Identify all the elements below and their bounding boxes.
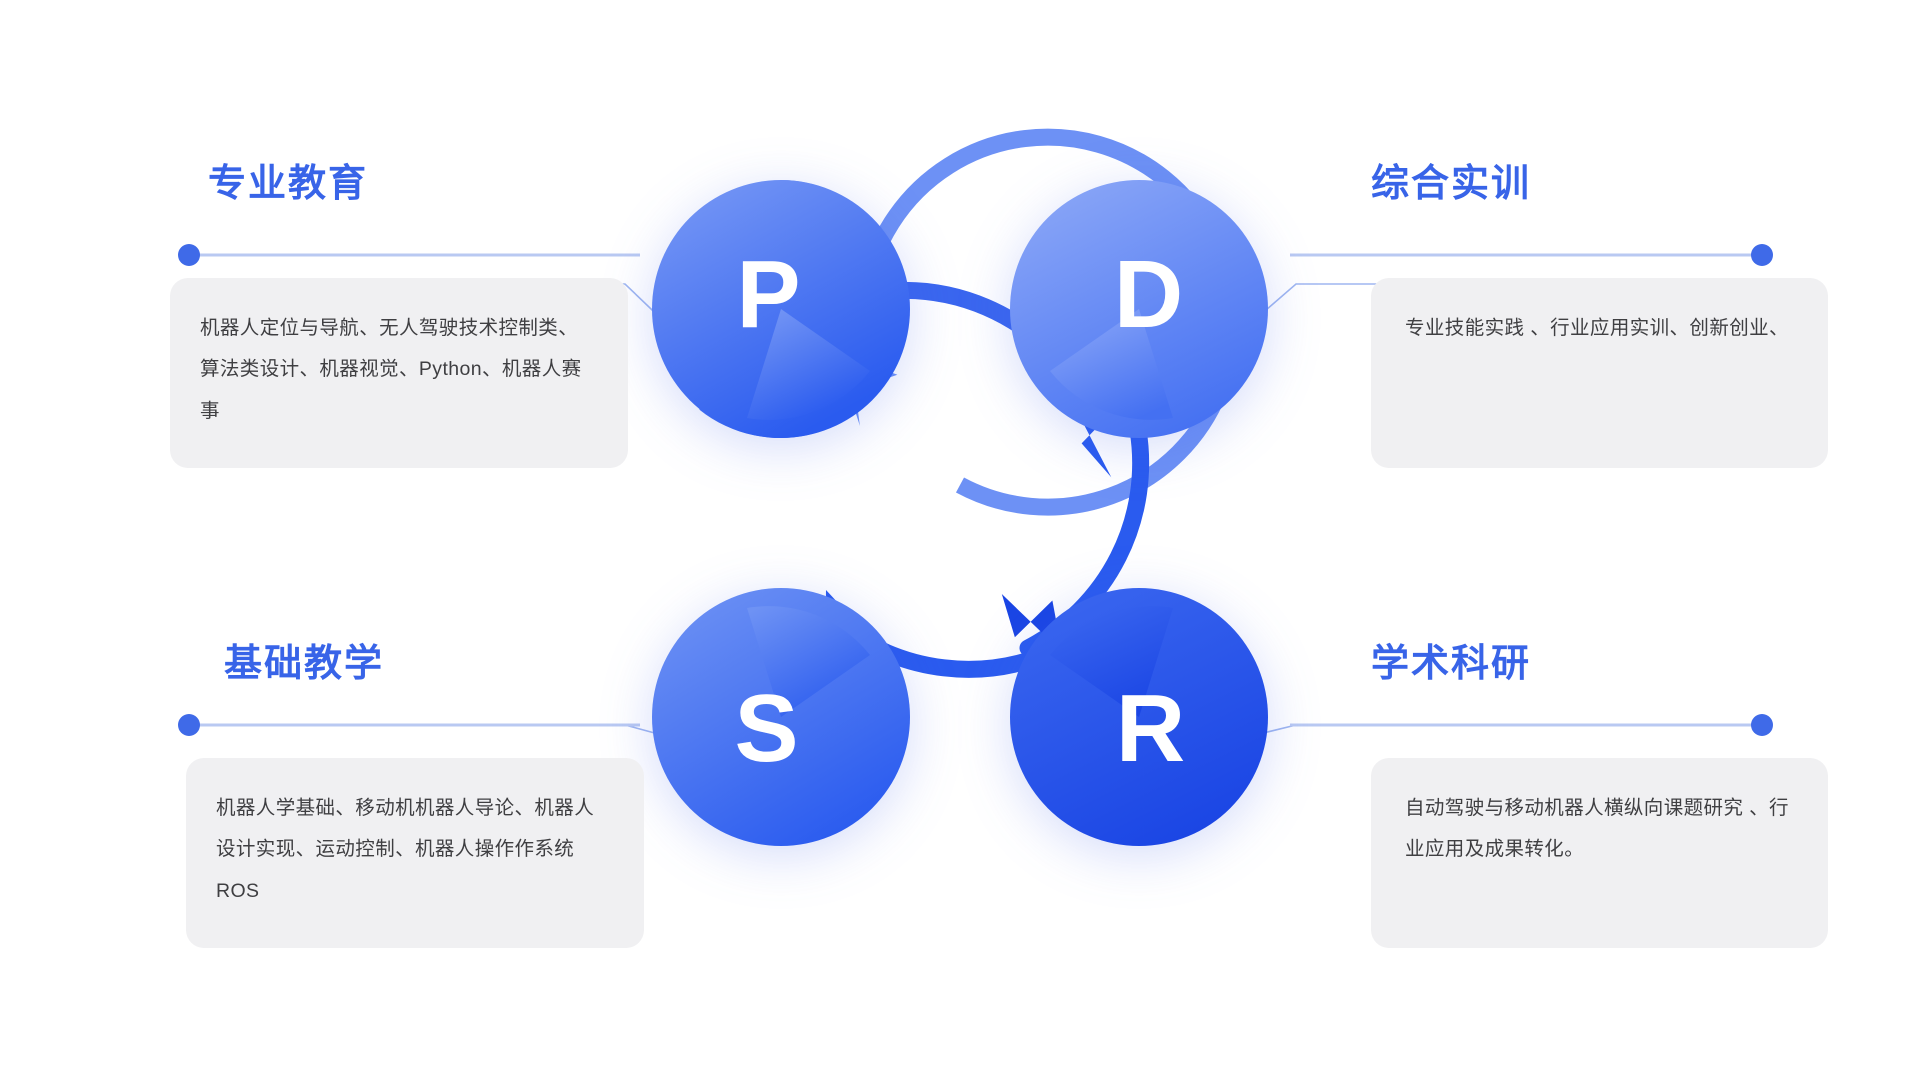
callout-heading-comprehensive-training: 综合实训 [1371, 165, 1531, 203]
callout-heading-academic-research: 学术科研 [1371, 645, 1531, 683]
cycle-node-p[interactable]: P [652, 180, 910, 438]
callout-body-comprehensive-training: 专业技能实践 、行业应用实训、创新创业、 [1371, 278, 1828, 468]
callout-body-academic-research: 自动驾驶与移动机器人横纵向课题研究 、行业应用及成果转化。 [1371, 758, 1828, 948]
cycle-node-r[interactable]: R [1010, 588, 1268, 846]
callout-body-foundation-teaching: 机器人学基础、移动机机器人导论、机器人设计实现、运动控制、机器人操作作系统ROS [186, 758, 644, 948]
cycle-node-letter-s: S [734, 681, 799, 777]
connector-dot-professional-education [178, 244, 200, 266]
connector-line-foundation-teaching [196, 725, 673, 738]
connector-dot-academic-research [1751, 714, 1773, 736]
connector-dot-foundation-teaching [178, 714, 200, 736]
connector-dot-comprehensive-training [1751, 244, 1773, 266]
diagram-canvas: P D S [0, 0, 1920, 1080]
callout-body-professional-education: 机器人定位与导航、无人驾驶技术控制类、算法类设计、机器视觉、Python、机器人… [170, 278, 628, 468]
cycle-node-s[interactable]: S [652, 588, 910, 846]
connector-line-academic-research [1243, 725, 1755, 738]
cycle-node-letter-d: D [1114, 247, 1184, 343]
cycle-node-letter-r: R [1116, 681, 1186, 777]
cycle-node-d[interactable]: D [1010, 180, 1268, 438]
callout-heading-foundation-teaching: 基础教学 [224, 645, 384, 683]
callout-heading-professional-education: 专业教育 [208, 165, 368, 203]
cycle-node-letter-p: P [736, 247, 801, 343]
